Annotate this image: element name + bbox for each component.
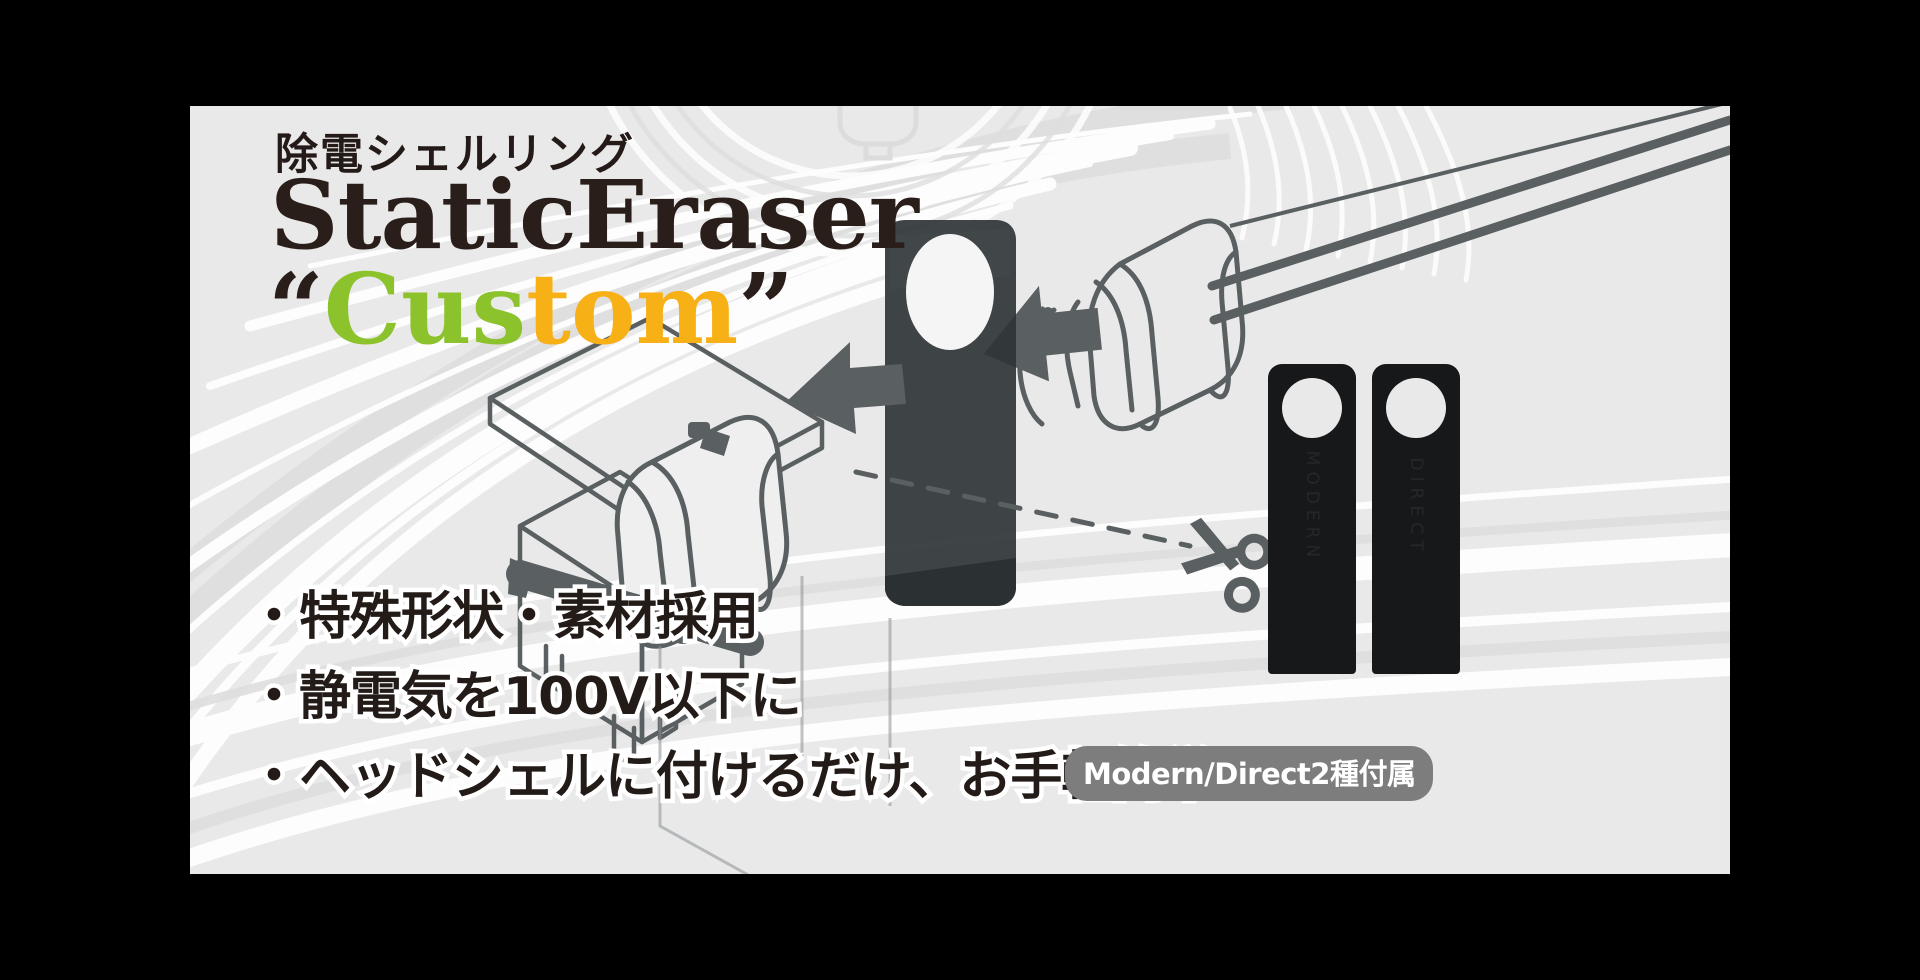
tag-emboss-label: DIRECT bbox=[1406, 457, 1426, 556]
feature-text: ・静電気を100V以下に bbox=[248, 666, 801, 728]
variant-text-green: Cus bbox=[324, 252, 526, 366]
static-eraser-sheet bbox=[885, 220, 1016, 606]
variant-title: “Custom” bbox=[268, 261, 794, 358]
scissors-icon bbox=[1171, 515, 1272, 611]
tag-hole bbox=[1386, 378, 1446, 438]
tonearm-wires bbox=[1230, 106, 1730, 226]
feature-text: ・特殊形状・素材採用 bbox=[248, 586, 758, 648]
page-title: StaticEraser bbox=[270, 168, 918, 263]
tag-emboss-label: MODERN bbox=[1302, 450, 1322, 562]
promo-banner-panel: MODERN DIRECT 除電シェルリング StaticEraser “Cus… bbox=[190, 106, 1730, 874]
status-badge: Modern/Direct2種付属 bbox=[1065, 746, 1433, 801]
tag-direct: DIRECT bbox=[1372, 364, 1460, 674]
tag-modern: MODERN bbox=[1268, 364, 1356, 674]
screenshot-canvas: MODERN DIRECT 除電シェルリング StaticEraser “Cus… bbox=[0, 0, 1920, 980]
variant-text-yellow: tom bbox=[526, 252, 738, 366]
quote-open-icon: “ bbox=[268, 252, 324, 366]
quote-close-icon: ” bbox=[738, 252, 794, 366]
tag-hole bbox=[1282, 378, 1342, 438]
